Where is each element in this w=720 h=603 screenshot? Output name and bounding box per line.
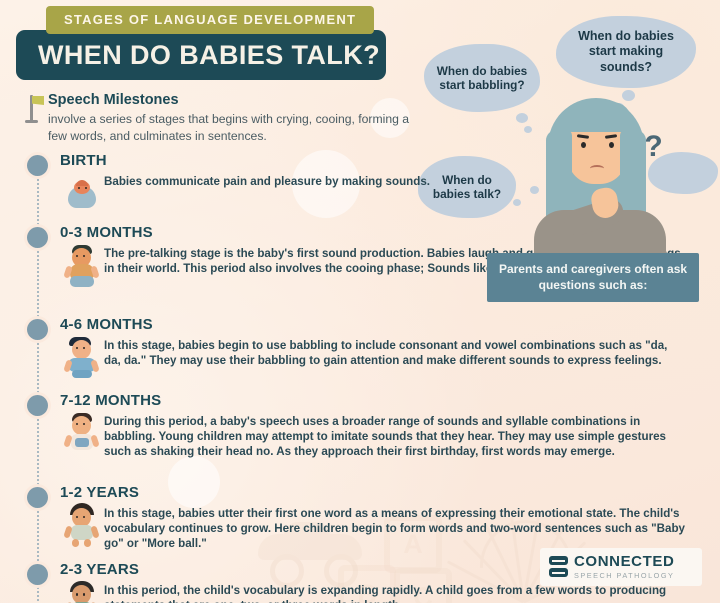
milestone-text: In this stage, babies begin to use babbl… (104, 336, 687, 369)
brand-logo[interactable]: CONNECTED SPEECH PATHOLOGY (540, 548, 702, 586)
baby-crawling-icon (60, 334, 104, 378)
timeline-dot-icon (27, 319, 48, 340)
intro-heading: Speech Milestones (48, 92, 422, 109)
thinking-woman-illustration (520, 92, 680, 272)
kicker-banner: STAGES OF LANGUAGE DEVELOPMENT (46, 6, 374, 34)
logo-mark-icon (549, 556, 568, 578)
milestone-text: During this period, a baby's speech uses… (104, 412, 687, 460)
milestone-label: 4-6 MONTHS (60, 316, 687, 335)
milestone-label: 7-12 MONTHS (60, 392, 687, 411)
thought-bubble-babbling-text: When do babies start babbling? (424, 64, 540, 93)
logo-main-text: CONNECTED (574, 554, 674, 569)
caption-box: Parents and caregivers often ask questio… (487, 253, 699, 302)
milestone-item: 7-12 MONTHS During this period, a baby's… (22, 392, 687, 474)
title-bar: WHEN DO BABIES TALK? (16, 30, 386, 80)
timeline-dot-icon (27, 227, 48, 248)
intro-body: involve a series of stages that begins w… (48, 111, 422, 145)
milestone-label: 1-2 YEARS (60, 484, 687, 503)
infographic-poster: A B C STAGES OF LANGUAGE DEVELOPMENT WHE… (0, 0, 720, 603)
timeline-dot-icon (27, 155, 48, 176)
thought-bubble-sounds-text: When do babies start making sounds? (556, 29, 696, 75)
milestone-text: Babies communicate pain and pleasure by … (104, 172, 430, 189)
toddler-walking-icon (60, 579, 104, 603)
timeline-dot-icon (27, 564, 48, 585)
thought-bubble-sounds: When do babies start making sounds? (556, 16, 696, 88)
timeline-dot-icon (27, 487, 48, 508)
milestone-text: In this stage, babies utter their first … (104, 504, 687, 552)
baby-sitting-icon (60, 242, 104, 286)
milestone-item: 4-6 MONTHS In this stage, babies begin t… (22, 316, 687, 382)
page-title: WHEN DO BABIES TALK? (16, 42, 380, 69)
baby-with-bib-icon (60, 410, 104, 454)
logo-sub-text: SPEECH PATHOLOGY (574, 572, 674, 579)
swaddled-baby-icon (60, 170, 104, 214)
toddler-standing-icon (60, 502, 104, 546)
milestone-item: 1-2 YEARS In this stage, babies utter th… (22, 484, 687, 552)
flag-icon (22, 95, 44, 123)
timeline-dot-icon (27, 395, 48, 416)
intro-block: Speech Milestones involve a series of st… (22, 92, 422, 145)
